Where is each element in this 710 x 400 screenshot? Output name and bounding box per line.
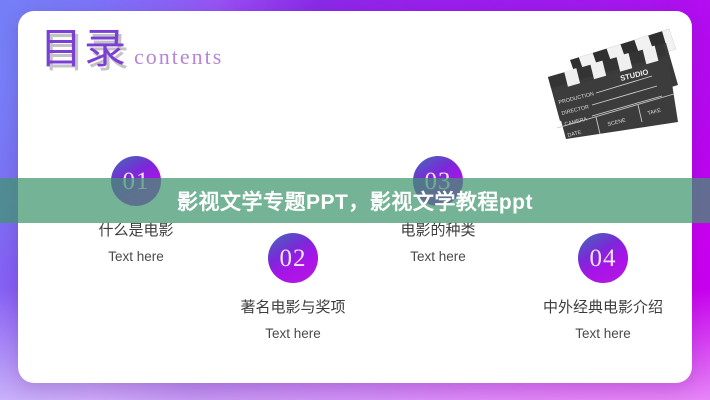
title-banner-overlay: 影视文学专题PPT，影视文学教程ppt xyxy=(0,178,710,223)
slide-screenshot: 目录 contents xyxy=(0,0,710,400)
page-title-cn: 目录 xyxy=(40,29,128,71)
section-02-number: 02 xyxy=(268,233,318,283)
clapperboard-icon: PRODUCTION STUDIO DIRECTOR CAMERA DATE S… xyxy=(526,27,678,139)
page-title: 目录 contents xyxy=(40,29,223,71)
section-04-title: 中外经典电影介绍 xyxy=(508,296,692,317)
banner-title-text: 影视文学专题PPT，影视文学教程ppt xyxy=(177,186,533,216)
section-04-subtitle: Text here xyxy=(508,326,692,341)
section-02-subtitle: Text here xyxy=(208,326,378,341)
page-title-en: contents xyxy=(134,46,223,71)
section-04[interactable]: 04 中外经典电影介绍 Text here xyxy=(508,233,692,341)
section-02-title: 著名电影与奖项 xyxy=(208,296,378,317)
section-01-subtitle: Text here xyxy=(56,249,216,264)
section-02[interactable]: 02 著名电影与奖项 Text here xyxy=(208,233,378,341)
section-03-subtitle: Text here xyxy=(358,249,518,264)
section-04-number: 04 xyxy=(578,233,628,283)
